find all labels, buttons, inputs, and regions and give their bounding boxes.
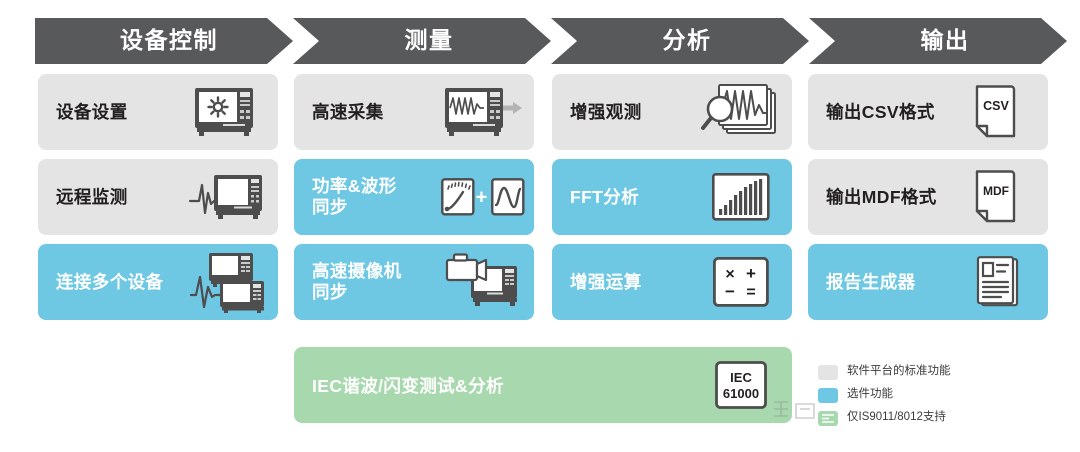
stage-header-analysis[interactable]: 分析: [551, 18, 809, 64]
card-power-waveform-sync[interactable]: 功率&波形 同步 +: [294, 159, 534, 235]
card-report-generator[interactable]: 报告生成器: [808, 244, 1048, 320]
fft-bars-icon: [702, 167, 780, 227]
stage-header-label: 设备控制: [110, 29, 218, 54]
instrument-acquisition-icon: [444, 82, 522, 142]
legend-item-green: 仅IS9011/8012支持: [818, 408, 1068, 428]
legend-swatch-standard-icon: [818, 365, 838, 380]
calculator-icon: × + − =: [702, 252, 780, 312]
legend: 软件平台的标准功能 选件功能 仅IS9011/8012支持: [818, 362, 1068, 431]
report-pages-icon: [958, 252, 1036, 312]
card-enhanced-computation[interactable]: 增强运算 × + − =: [552, 244, 792, 320]
calc-equals-glyph: =: [746, 284, 755, 301]
card-connect-multiple-devices[interactable]: 连接多个设备: [38, 244, 278, 320]
instrument-waveform-icon: [188, 167, 266, 227]
stage-header-label: 分析: [649, 29, 712, 54]
camera-instrument-icon: [444, 252, 522, 312]
mdf-file-icon: MDF: [958, 167, 1036, 227]
column-measurement: 高速采集: [294, 74, 534, 329]
card-fft-analysis[interactable]: FFT分析: [552, 159, 792, 235]
power-waveform-plus: +: [476, 187, 488, 209]
calc-minus-glyph: −: [725, 282, 735, 301]
capability-matrix-diagram: 设备控制 测量 分析 输出 设备设置: [0, 0, 1080, 452]
card-label: 报告生成器: [826, 272, 958, 293]
csv-file-icon: CSV: [958, 82, 1036, 142]
calc-multiply-glyph: ×: [725, 266, 734, 283]
legend-item-option: 选件功能: [818, 385, 1068, 405]
magnifier-waveform-icon: [702, 82, 780, 142]
legend-label: 选件功能: [847, 389, 893, 401]
legend-label: 仅IS9011/8012支持: [847, 412, 946, 424]
legend-label: 软件平台的标准功能: [847, 366, 951, 378]
card-label: 连接多个设备: [56, 272, 188, 293]
legend-item-standard: 软件平台的标准功能: [818, 362, 1068, 382]
card-label: 高速采集: [312, 102, 444, 123]
iec-61000-badge-icon: IEC 61000: [706, 361, 776, 409]
card-label: 输出CSV格式: [826, 102, 958, 123]
iec-badge-line1: IEC: [730, 370, 752, 385]
card-label: 增强运算: [570, 272, 702, 293]
calc-plus-glyph: +: [746, 264, 756, 283]
card-label: IEC谐波/闪变测试&分析: [312, 373, 706, 398]
card-label: 增强观测: [570, 102, 702, 123]
multi-instrument-icon: [188, 252, 266, 312]
stage-header-label: 输出: [907, 29, 970, 54]
card-high-speed-acquisition[interactable]: 高速采集: [294, 74, 534, 150]
power-waveform-icon: +: [444, 167, 522, 227]
card-label: FFT分析: [570, 187, 702, 208]
card-remote-monitoring[interactable]: 远程监测: [38, 159, 278, 235]
mdf-file-label: MDF: [983, 184, 1009, 198]
stage-header-output[interactable]: 输出: [809, 18, 1067, 64]
card-label: 设备设置: [56, 102, 188, 123]
card-label: 输出MDF格式: [826, 187, 958, 208]
card-high-speed-camera-sync[interactable]: 高速摄像机 同步: [294, 244, 534, 320]
card-label: 远程监测: [56, 187, 188, 208]
card-enhanced-observation[interactable]: 增强观测: [552, 74, 792, 150]
stage-header-device-control[interactable]: 设备控制: [35, 18, 293, 64]
column-device-control: 设备设置: [38, 74, 278, 329]
card-output-csv[interactable]: 输出CSV格式 CSV: [808, 74, 1048, 150]
legend-swatch-option-icon: [818, 388, 838, 403]
card-label: 功率&波形 同步: [312, 176, 444, 217]
card-label: 高速摄像机 同步: [312, 261, 444, 302]
iec-badge-line2: 61000: [723, 386, 759, 401]
card-device-setup[interactable]: 设备设置: [38, 74, 278, 150]
stage-header-measurement[interactable]: 测量: [293, 18, 551, 64]
card-iec-harmonics-flicker[interactable]: IEC谐波/闪变测试&分析 IEC 61000: [294, 347, 792, 423]
card-output-mdf[interactable]: 输出MDF格式 MDF: [808, 159, 1048, 235]
instrument-gear-icon: [188, 82, 266, 142]
column-analysis: 增强观测 FFT分析: [552, 74, 792, 329]
stage-header-label: 测量: [391, 29, 454, 54]
stage-header-row: 设备控制 测量 分析 输出: [0, 18, 1080, 64]
legend-swatch-green-icon: [818, 411, 838, 426]
csv-file-label: CSV: [983, 99, 1009, 113]
column-output: 输出CSV格式 CSV 输出MDF格式 MDF 报告生成器: [808, 74, 1048, 329]
